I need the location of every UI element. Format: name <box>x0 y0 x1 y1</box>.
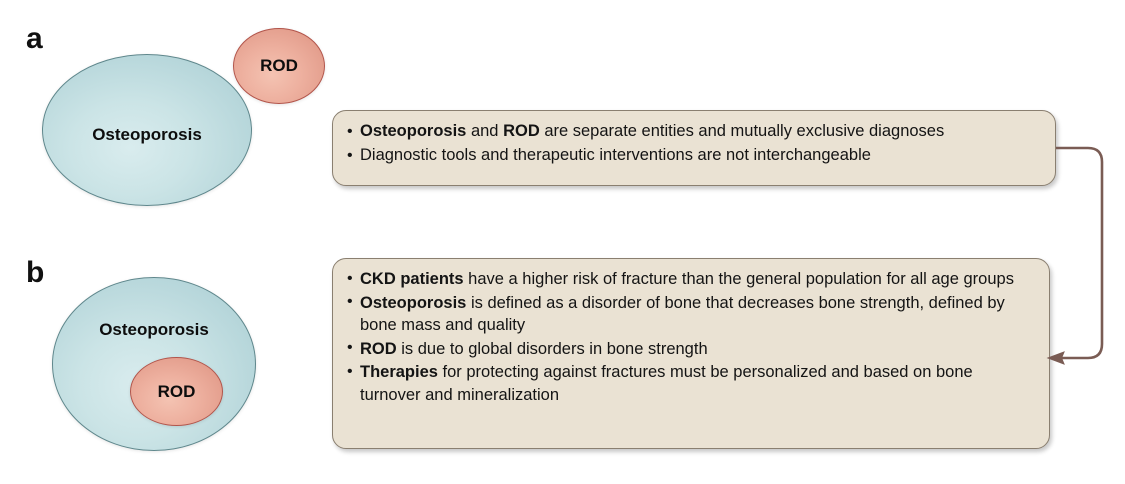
panel-a-bullet-list: Osteoporosis and ROD are separate entiti… <box>347 120 1039 167</box>
panel-a-rod-ellipse: ROD <box>233 28 325 104</box>
panel-b-bullet-list: CKD patients have a higher risk of fract… <box>347 268 1033 406</box>
panel-a-rod-label: ROD <box>260 56 298 76</box>
list-item: Therapies for protecting against fractur… <box>347 361 1033 406</box>
list-item: Osteoporosis is defined as a disorder of… <box>347 292 1033 337</box>
panel-a-osteoporosis-ellipse: Osteoporosis <box>42 54 252 206</box>
panel-b-osteoporosis-label: Osteoporosis <box>99 320 209 340</box>
panel-b-rod-label: ROD <box>158 382 196 402</box>
list-item: Diagnostic tools and therapeutic interve… <box>347 144 1039 167</box>
list-item: CKD patients have a higher risk of fract… <box>347 268 1033 291</box>
list-item: ROD is due to global disorders in bone s… <box>347 338 1033 361</box>
panel-b-rod-ellipse: ROD <box>130 357 223 426</box>
connector-arrowhead-icon <box>1048 352 1064 364</box>
panel-letter-b: b <box>26 258 44 288</box>
connector-line <box>1056 148 1102 358</box>
panel-a-to-panel-b-arrow <box>1040 130 1125 380</box>
panel-letter-a: a <box>26 24 43 54</box>
panel-a-textbox: Osteoporosis and ROD are separate entiti… <box>332 110 1056 186</box>
list-item: Osteoporosis and ROD are separate entiti… <box>347 120 1039 143</box>
panel-b-textbox: CKD patients have a higher risk of fract… <box>332 258 1050 449</box>
panel-a-osteoporosis-label: Osteoporosis <box>92 125 202 145</box>
figure-canvas: a Osteoporosis ROD Osteoporosis and ROD … <box>0 0 1125 484</box>
